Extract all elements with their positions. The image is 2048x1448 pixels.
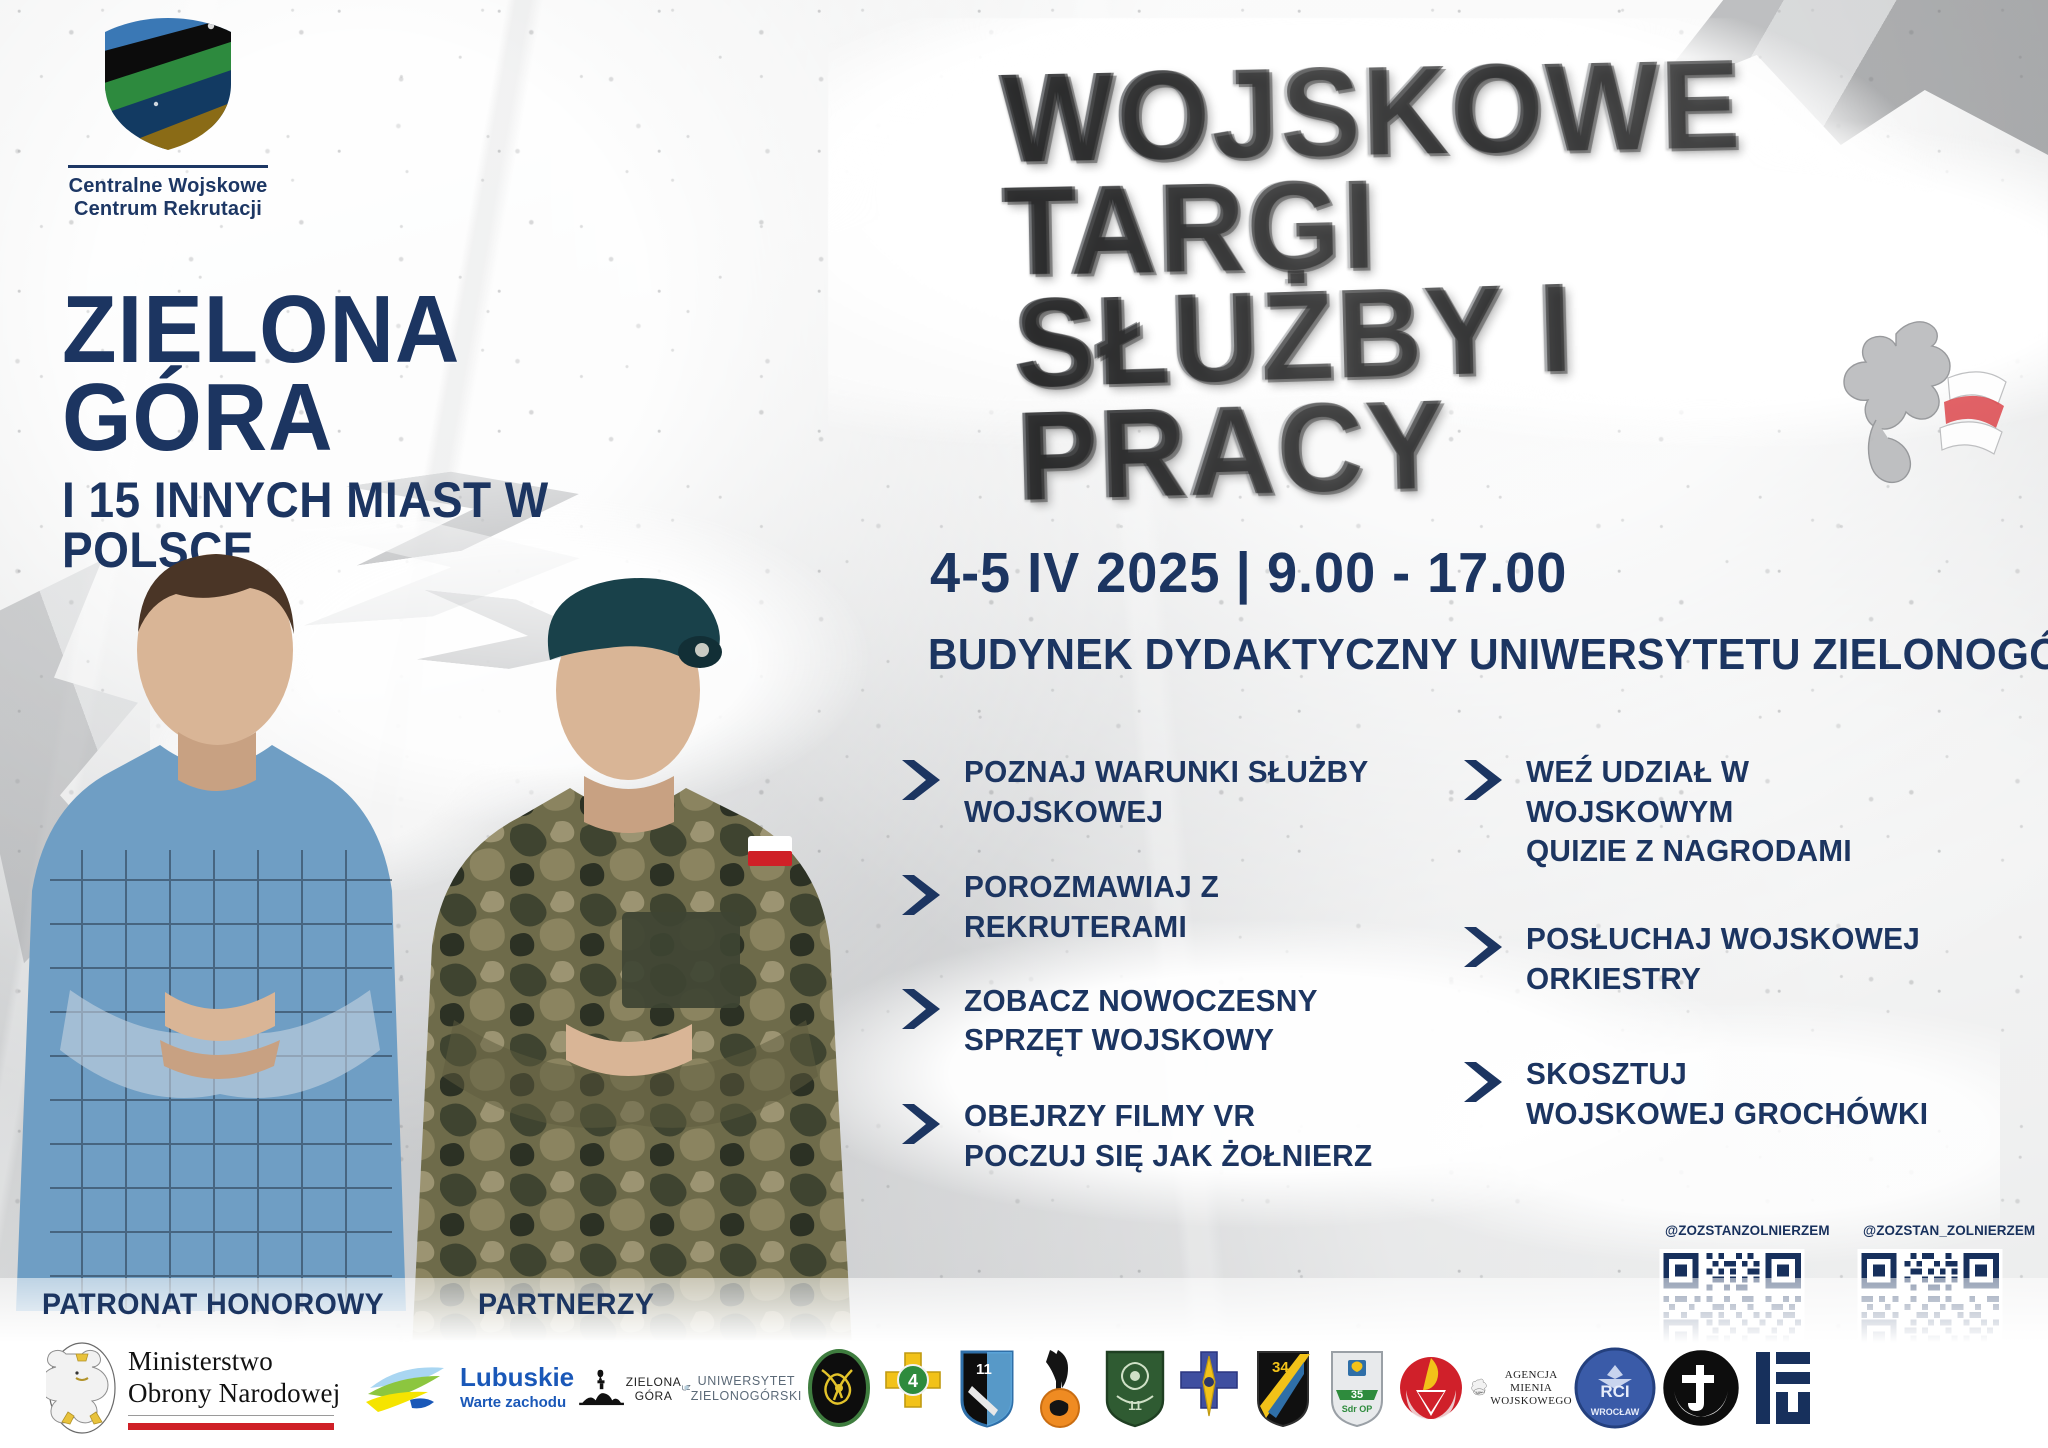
- event-venue: BUDYNEK DYDAKTYCZNY UNIWERSYTETU ZIELONO…: [928, 630, 2048, 680]
- 34-brygada-kawalerii-pancernej-badge: 34: [1254, 1348, 1312, 1428]
- logo-polska-walczaca: [1658, 1345, 1744, 1431]
- zwiazek-zolnierzy-wp-badge: [1398, 1348, 1464, 1428]
- feature-text-line: ORKIESTRY: [1526, 959, 1920, 999]
- badge-11-dywizja: 11: [1098, 1345, 1172, 1431]
- 11-dywizja-kawalerii-pancernej-badge: 11: [1101, 1348, 1169, 1428]
- chevron-right-icon: [1462, 925, 1504, 969]
- polska-walczaca-icon: [1660, 1347, 1742, 1429]
- feature-text-line: POCZUJ SIĘ JAK ŻOŁNIERZ: [964, 1136, 1372, 1176]
- amw-caption: AGENCJA MIENIA WOJSKOWEGO: [1490, 1369, 1572, 1409]
- ipn-logo-icon: [1748, 1348, 1818, 1428]
- lubuskie-line2: Warte zachodu: [460, 1393, 574, 1413]
- chevron-right-icon: [900, 758, 942, 802]
- orkiestra-wojskowa-badge: [1032, 1346, 1090, 1430]
- badge-zwiazek-strzelecki: [1172, 1345, 1246, 1431]
- label-patronage: PATRONAT HONOROWY: [42, 1288, 384, 1322]
- feature-column-right: WEŹ UDZIAŁ W WOJSKOWYM QUIZIE Z NAGRODAM…: [1462, 752, 1982, 1219]
- poster-root: Centralne Wojskowe Centrum Rekrutacji ZI…: [0, 0, 2048, 1448]
- eagle-emblem-icon: [1778, 300, 2018, 550]
- cwcr-org-name: Centralne Wojskowe Centrum Rekrutacji: [48, 175, 288, 221]
- 5-pulk-artylerii-badge: [808, 1348, 870, 1428]
- feature-item-label: OBEJRZY FILMY VR POCZUJ SIĘ JAK ŻOŁNIERZ: [964, 1096, 1372, 1175]
- lubuskie-wave-icon: [364, 1358, 450, 1418]
- cwcr-org-line1: Centralne Wojskowe: [48, 175, 288, 198]
- 35-skwadron-op-badge: 35 Sdr OP: [1326, 1348, 1388, 1428]
- lubuskie-line1: Lubuskie: [460, 1364, 574, 1390]
- event-datetime: 4-5 IV 2025|9.00 - 17.00: [930, 540, 1567, 606]
- amw-caption-line1: AGENCJA: [1490, 1369, 1572, 1382]
- chevron-right-icon: [900, 873, 942, 917]
- cwcr-org-line2: Centrum Rekrutacji: [48, 198, 288, 221]
- svg-text:4: 4: [908, 1371, 918, 1391]
- svg-text:AMW: AMW: [1476, 1391, 1484, 1394]
- badge-35-sdr-op: 35 Sdr OP: [1320, 1345, 1394, 1431]
- svg-text:RCI: RCI: [1600, 1382, 1629, 1401]
- svg-text:11: 11: [1128, 1398, 1142, 1413]
- feature-item-label: POSŁUCHAJ WOJSKOWEJ ORKIESTRY: [1526, 919, 1920, 998]
- feature-item-label: ZOBACZ NOWOCZESNY SPRZĘT WOJSKOWY: [964, 981, 1318, 1060]
- svg-text:11: 11: [976, 1361, 992, 1378]
- uz-eagle-icon: [682, 1357, 691, 1419]
- feature-item: POZNAJ WARUNKI SŁUŻBY WOJSKOWEJ: [900, 752, 1420, 831]
- feature-column-left: POZNAJ WARUNKI SŁUŻBY WOJSKOWEJ POROZMAW…: [900, 752, 1420, 1219]
- uz-caption: UNIWERSYTET ZIELONOGÓRSKI: [691, 1374, 802, 1404]
- badge-34-brygada: 34: [1246, 1345, 1320, 1431]
- zielona-gora-bacchus-icon: [578, 1355, 625, 1421]
- logo-uz: UNIWERSYTET ZIELONOGÓRSKI: [682, 1357, 802, 1419]
- chevron-right-icon: [900, 987, 942, 1031]
- feature-text-line: WEŹ UDZIAŁ W WOJSKOWYM: [1526, 752, 1964, 831]
- lubuskie-text: Lubuskie Warte zachodu: [460, 1364, 574, 1413]
- feature-item-label: WEŹ UDZIAŁ W WOJSKOWYM QUIZIE Z NAGRODAM…: [1526, 752, 1964, 871]
- svg-text:34: 34: [1272, 1359, 1289, 1376]
- instagram-handle[interactable]: @ZOZSTAN_ZOLNIERZEM: [1863, 1222, 2035, 1238]
- feature-item: SKOSZTUJ WOJSKOWEJ GROCHÓWKI: [1462, 1054, 1982, 1133]
- logo-rci-wroclaw: RCI WROCŁAW: [1572, 1345, 1658, 1431]
- feature-item: WEŹ UDZIAŁ W WOJSKOWYM QUIZIE Z NAGRODAM…: [1462, 752, 1982, 871]
- feature-text-line: POZNAJ WARUNKI SŁUŻBY: [964, 752, 1369, 792]
- feature-text-line: SPRZĘT WOJSKOWY: [964, 1020, 1318, 1060]
- cwcr-shield-logo: [93, 14, 243, 154]
- feature-list: POZNAJ WARUNKI SŁUŻBY WOJSKOWEJ POROZMAW…: [900, 752, 2000, 1219]
- uz-caption-line2: ZIELONOGÓRSKI: [691, 1389, 802, 1404]
- logo-lubuskie: Lubuskie Warte zachodu: [364, 1358, 578, 1418]
- chevron-right-icon: [900, 1102, 942, 1146]
- mon-divider: [128, 1415, 334, 1417]
- mon-line2: Obrony Narodowej: [128, 1378, 340, 1410]
- amw-caption-line2: MIENIA WOJSKOWEGO: [1490, 1382, 1572, 1408]
- title-line-1: WOJSKOWE TARGI: [998, 43, 1952, 289]
- feature-item-label: POROZMAWIAJ Z REKRUTERAMI: [964, 867, 1402, 946]
- svg-text:Sdr OP: Sdr OP: [1342, 1404, 1373, 1414]
- uz-caption-line1: UNIWERSYTET: [691, 1374, 802, 1389]
- footer-logos: Ministerstwo Obrony Narodowej Lubuskie W…: [46, 1336, 2028, 1440]
- zielona-gora-caption: ZIELONA GÓRA: [625, 1375, 682, 1403]
- amw-eagle-icon: AMW: [1468, 1361, 1490, 1415]
- civilian-man-photo: [10, 520, 430, 1320]
- logo-amw: AMW AGENCJA MIENIA WOJSKOWEGO: [1468, 1361, 1572, 1415]
- facebook-handle[interactable]: @ZOZSTANZOLNIERZEM: [1665, 1222, 1830, 1238]
- logo-ipn: [1744, 1345, 1822, 1431]
- zwiazek-strzelecki-badge: [1177, 1348, 1241, 1428]
- city-name: ZIELONA GÓRA: [62, 286, 657, 463]
- feature-text-line: POROZMAWIAJ Z REKRUTERAMI: [964, 867, 1402, 946]
- feature-text-line: SKOSZTUJ: [1526, 1054, 1928, 1094]
- svg-text:WROCŁAW: WROCŁAW: [1591, 1407, 1640, 1417]
- label-partners: PARTNERZY: [478, 1288, 654, 1322]
- feature-text-line: OBEJRZY FILMY VR: [964, 1096, 1372, 1136]
- mon-red-bar: [128, 1423, 334, 1430]
- feature-text-line: WOJSKOWEJ GROCHÓWKI: [1526, 1094, 1928, 1134]
- mon-line1: Ministerstwo: [128, 1346, 340, 1378]
- polish-eagle-icon: [46, 1340, 118, 1436]
- feature-text-line: QUIZIE Z NAGRODAMI: [1526, 831, 1964, 871]
- event-separator: |: [1220, 541, 1267, 605]
- svg-text:35: 35: [1351, 1389, 1363, 1401]
- logo-mon: Ministerstwo Obrony Narodowej: [46, 1340, 364, 1436]
- logo-zielona-gora: ZIELONA GÓRA: [578, 1355, 682, 1421]
- badge-5-pulk-artylerii: [802, 1345, 876, 1431]
- feature-text-line: WOJSKOWEJ: [964, 792, 1369, 832]
- cwcr-logo-block: Centralne Wojskowe Centrum Rekrutacji: [48, 14, 288, 221]
- event-dates: 4-5 IV 2025: [930, 541, 1220, 605]
- feature-item: OBEJRZY FILMY VR POCZUJ SIĘ JAK ŻOŁNIERZ: [900, 1096, 1420, 1175]
- feature-item: POROZMAWIAJ Z REKRUTERAMI: [900, 867, 1420, 946]
- badge-orkiestra: [1024, 1345, 1098, 1431]
- event-hours: 9.00 - 17.00: [1267, 541, 1567, 605]
- chevron-right-icon: [1462, 758, 1504, 802]
- mon-text: Ministerstwo Obrony Narodowej: [128, 1340, 340, 1430]
- badge-4-pulk: 4: [876, 1345, 950, 1431]
- rci-wroclaw-icon: RCI WROCŁAW: [1574, 1347, 1656, 1429]
- feature-text-line: POSŁUCHAJ WOJSKOWEJ: [1526, 919, 1920, 959]
- badge-11-batalion: 11: [950, 1345, 1024, 1431]
- 11-batalion-dowodzenia-badge: 11: [958, 1348, 1016, 1428]
- feature-item: ZOBACZ NOWOCZESNY SPRZĘT WOJSKOWY: [900, 981, 1420, 1060]
- badge-zwiazek-zolnierzy: [1394, 1345, 1468, 1431]
- feature-item: POSŁUCHAJ WOJSKOWEJ ORKIESTRY: [1462, 919, 1982, 998]
- feature-text-line: ZOBACZ NOWOCZESNY: [964, 981, 1318, 1021]
- feature-item-label: POZNAJ WARUNKI SŁUŻBY WOJSKOWEJ: [964, 752, 1369, 831]
- feature-item-label: SKOSZTUJ WOJSKOWEJ GROCHÓWKI: [1526, 1054, 1928, 1133]
- soldier-photo: [370, 540, 890, 1340]
- footer-labels: PATRONAT HONOROWY PARTNERZY: [42, 1288, 664, 1322]
- 4-zielonogorski-pulk-badge: 4: [882, 1349, 944, 1427]
- cwcr-divider: [68, 165, 268, 168]
- chevron-right-icon: [1462, 1060, 1504, 1104]
